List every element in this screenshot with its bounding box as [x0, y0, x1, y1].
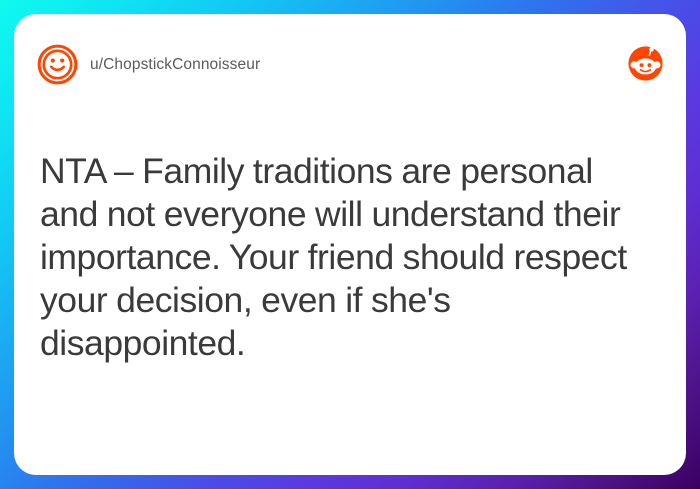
smiley-face-avatar-icon[interactable] [36, 43, 79, 86]
post-header: u/ChopstickConnoisseur [14, 14, 686, 100]
reddit-post-card: u/ChopstickConnoisseur [14, 14, 686, 475]
screenshot-canvas: u/ChopstickConnoisseur [0, 0, 700, 489]
post-body-text: NTA – Family traditions are personal and… [40, 150, 648, 365]
reddit-snoo-icon[interactable] [625, 43, 666, 84]
username-label[interactable]: u/ChopstickConnoisseur [90, 56, 260, 74]
